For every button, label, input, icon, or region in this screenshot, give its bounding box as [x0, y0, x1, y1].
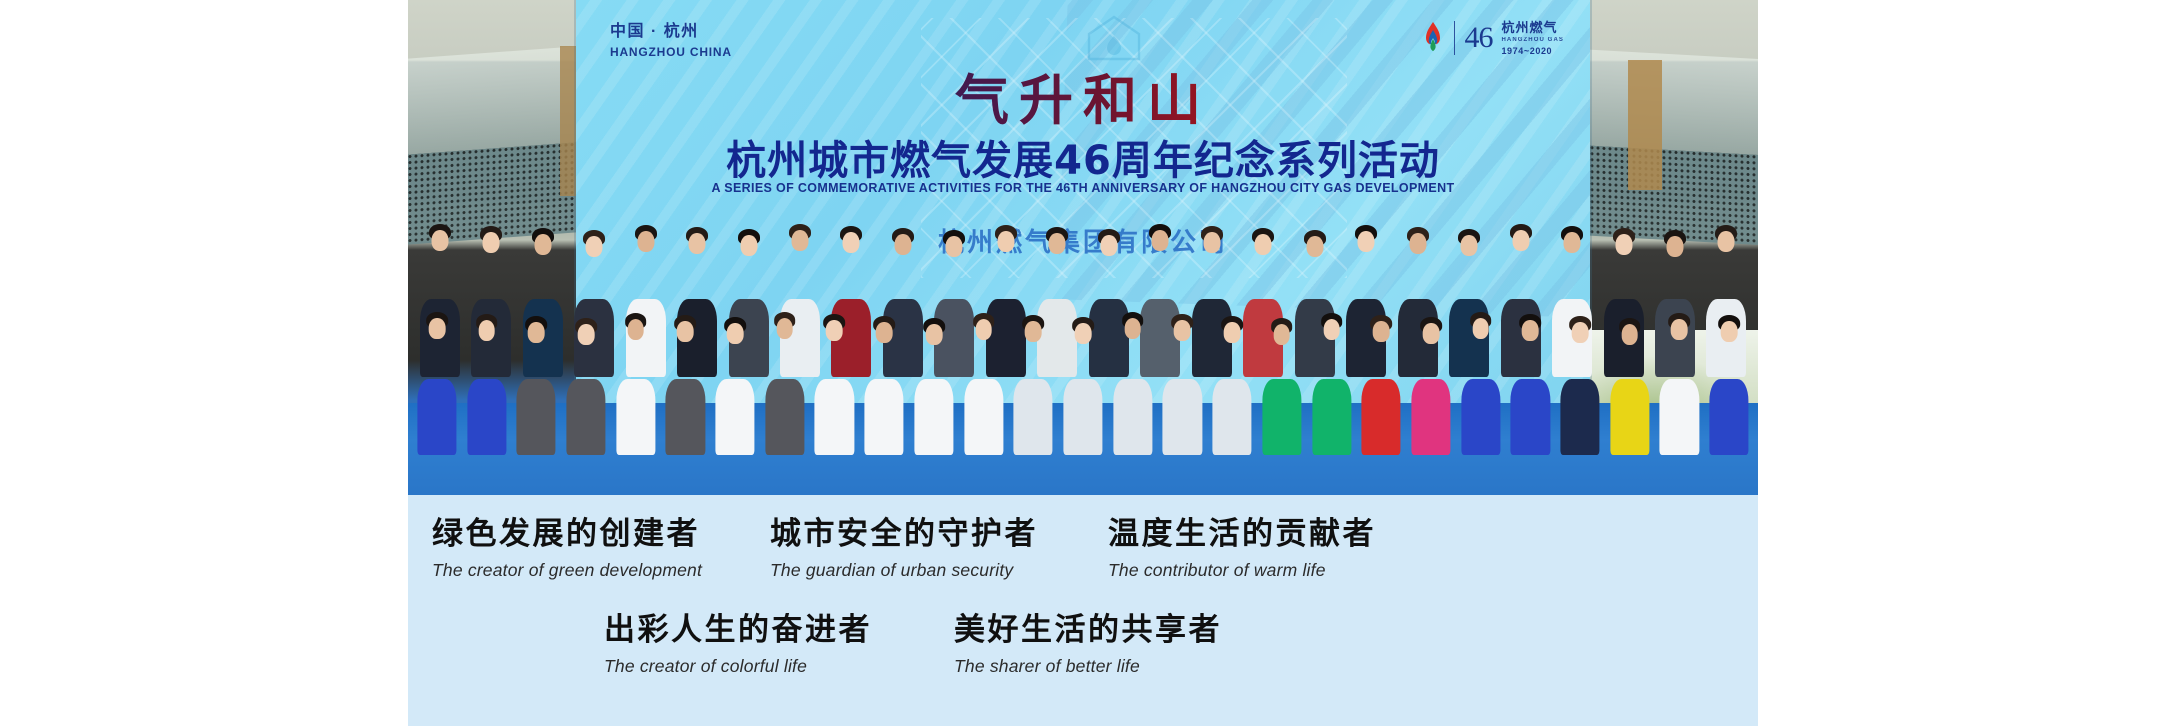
face	[483, 232, 500, 253]
person	[909, 305, 959, 455]
anniversary-number: 46	[1464, 23, 1492, 53]
person	[1704, 305, 1754, 455]
face	[1373, 321, 1390, 342]
company-name-en: HANGZHOU GAS	[1501, 37, 1564, 44]
slogan-cn: 城市安全的守护者	[770, 517, 1108, 551]
face	[1124, 318, 1141, 339]
face	[792, 230, 809, 251]
slogan-row-2: 出彩人生的奋进者 The creator of colorful life 美好…	[408, 613, 1758, 677]
company-name-cn: 杭州燃气	[1501, 20, 1564, 36]
person	[1257, 305, 1307, 455]
face	[429, 318, 446, 339]
person	[412, 305, 462, 455]
person	[1456, 305, 1506, 455]
face	[1358, 231, 1375, 252]
face	[1203, 232, 1220, 253]
slogan-en: The creator of colorful life	[604, 656, 954, 677]
person	[462, 305, 512, 455]
slogan-item: 绿色发展的创建者 The creator of green developmen…	[432, 517, 770, 581]
slogan-cn: 出彩人生的奋进者	[604, 613, 954, 647]
torso	[865, 379, 904, 455]
slogan-en: The creator of green development	[432, 560, 770, 581]
torso	[815, 379, 854, 455]
face	[431, 230, 448, 251]
face	[997, 231, 1014, 252]
face	[876, 322, 893, 343]
house-flame-icon	[1085, 14, 1143, 62]
location-label-cn: 中国 · 杭州	[610, 22, 732, 42]
face	[843, 232, 860, 253]
person	[1655, 305, 1705, 455]
crowd-row-front	[408, 305, 1758, 455]
slogan-cn: 美好生活的共享者	[954, 613, 1304, 647]
face	[1615, 234, 1632, 255]
person	[1058, 305, 1108, 455]
face	[1621, 324, 1638, 345]
torso	[517, 379, 556, 455]
face	[1049, 233, 1066, 254]
torso	[1063, 379, 1102, 455]
glass-railing-right	[1578, 49, 1758, 158]
torso	[1511, 379, 1550, 455]
face	[586, 236, 603, 257]
face	[776, 318, 793, 339]
face	[1512, 230, 1529, 251]
face	[689, 233, 706, 254]
person	[1207, 305, 1257, 455]
person	[561, 305, 611, 455]
slogan-cn: 温度生活的贡献者	[1108, 517, 1446, 551]
torso	[1213, 379, 1252, 455]
person	[1008, 305, 1058, 455]
slogan-item: 温度生活的贡献者 The contributor of warm life	[1108, 517, 1446, 581]
torso	[666, 379, 705, 455]
person	[1555, 305, 1605, 455]
torso	[1163, 379, 1202, 455]
slogan-en: The contributor of warm life	[1108, 560, 1446, 581]
person	[959, 305, 1009, 455]
article-image: 中国 · 杭州 HANGZHOU CHINA 46 杭州燃气 HANGZHOU …	[408, 0, 1758, 726]
group-photo: 中国 · 杭州 HANGZHOU CHINA 46 杭州燃气 HANGZHOU …	[408, 0, 1758, 495]
slogan-item: 城市安全的守护者 The guardian of urban security	[770, 517, 1108, 581]
person	[1505, 305, 1555, 455]
face	[1273, 324, 1290, 345]
face	[1718, 231, 1735, 252]
face	[1572, 322, 1589, 343]
face	[826, 320, 843, 341]
person	[1605, 305, 1655, 455]
face	[926, 324, 943, 345]
torso	[1362, 379, 1401, 455]
person	[1406, 305, 1456, 455]
gas-flame-icon	[1421, 21, 1445, 55]
torso	[566, 379, 605, 455]
slogan-en: The guardian of urban security	[770, 560, 1108, 581]
torso	[715, 379, 754, 455]
torso	[467, 379, 506, 455]
person	[611, 305, 661, 455]
slogan-item: 出彩人生的奋进者 The creator of colorful life	[604, 613, 954, 677]
face	[578, 324, 595, 345]
slogan-panel: 绿色发展的创建者 The creator of green developmen…	[408, 495, 1758, 726]
face	[727, 323, 744, 344]
torso	[616, 379, 655, 455]
torso	[1312, 379, 1351, 455]
face	[677, 321, 694, 342]
person	[1356, 305, 1406, 455]
crowd	[408, 165, 1758, 495]
anniversary-logo: 46 杭州燃气 HANGZHOU GAS 1974~2020	[1421, 20, 1564, 57]
face	[1025, 321, 1042, 342]
face	[1174, 320, 1191, 341]
slogan-item: 美好生活的共享者 The sharer of better life	[954, 613, 1304, 677]
face	[1409, 233, 1426, 254]
person	[1108, 305, 1158, 455]
torso	[1113, 379, 1152, 455]
face	[1461, 235, 1478, 256]
slogan-row-1: 绿色发展的创建者 The creator of green developmen…	[408, 517, 1758, 581]
person	[1307, 305, 1357, 455]
slogan-cn: 绿色发展的创建者	[432, 517, 770, 551]
torso	[1014, 379, 1053, 455]
face	[1564, 232, 1581, 253]
face	[1152, 230, 1169, 251]
torso	[1610, 379, 1649, 455]
torso	[1560, 379, 1599, 455]
artistic-logotype: 气升和山	[576, 56, 1590, 135]
face	[637, 231, 654, 252]
face	[1423, 323, 1440, 344]
face	[1721, 321, 1738, 342]
slogan-en: The sharer of better life	[954, 656, 1304, 677]
face	[1100, 235, 1117, 256]
screenshot-canvas: 中国 · 杭州 HANGZHOU CHINA 46 杭州燃气 HANGZHOU …	[0, 0, 2179, 726]
torso	[417, 379, 456, 455]
anniversary-years: 1974~2020	[1501, 46, 1564, 57]
anniversary-logo-text: 杭州燃气 HANGZHOU GAS 1974~2020	[1501, 20, 1564, 57]
person	[1158, 305, 1208, 455]
face	[1255, 234, 1272, 255]
torso	[1411, 379, 1450, 455]
face	[1075, 323, 1092, 344]
person	[710, 305, 760, 455]
face	[946, 236, 963, 257]
face	[1522, 320, 1539, 341]
person	[511, 305, 561, 455]
torso	[1710, 379, 1749, 455]
face	[894, 234, 911, 255]
face	[1666, 236, 1683, 257]
torso	[964, 379, 1003, 455]
person	[760, 305, 810, 455]
face	[627, 319, 644, 340]
face	[1671, 319, 1688, 340]
face	[1306, 236, 1323, 257]
torso	[1461, 379, 1500, 455]
person	[661, 305, 711, 455]
torso	[1660, 379, 1699, 455]
face	[740, 235, 757, 256]
face	[478, 320, 495, 341]
torso	[1262, 379, 1301, 455]
person	[859, 305, 909, 455]
torso	[914, 379, 953, 455]
face	[534, 234, 551, 255]
face	[1472, 318, 1489, 339]
face	[528, 322, 545, 343]
torso	[765, 379, 804, 455]
face	[1323, 319, 1340, 340]
face	[1224, 322, 1241, 343]
logo-divider	[1454, 21, 1456, 55]
person	[810, 305, 860, 455]
face	[975, 319, 992, 340]
location-label: 中国 · 杭州 HANGZHOU CHINA	[610, 22, 732, 60]
